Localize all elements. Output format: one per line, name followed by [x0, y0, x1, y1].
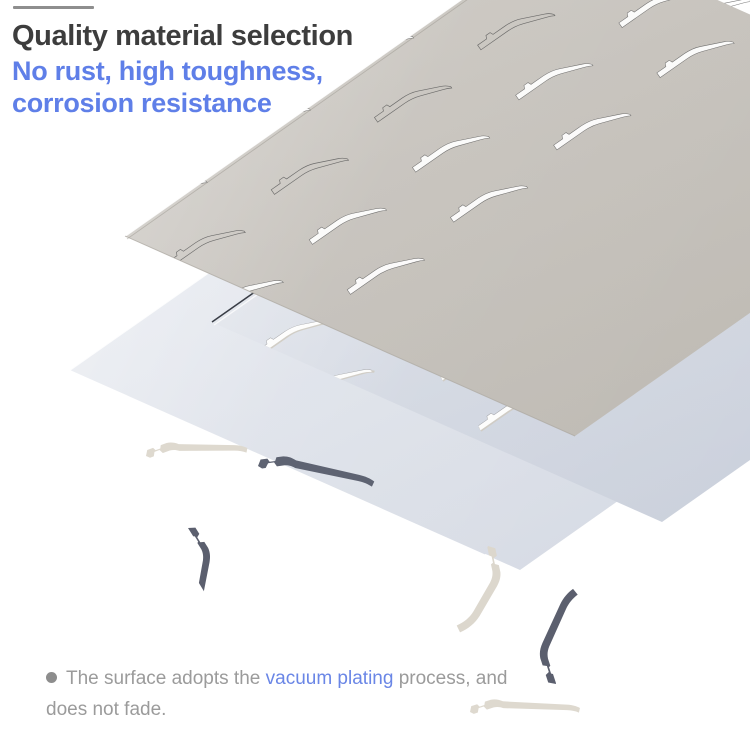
caption-text-before: The surface adopts the — [66, 668, 266, 689]
page-title: Quality material selection — [12, 21, 353, 52]
caption-highlight: vacuum plating — [266, 668, 394, 689]
feature-caption: The surface adopts the vacuum plating pr… — [46, 664, 516, 726]
bullet-icon — [46, 672, 57, 683]
blade-part-dark-lower-right — [523, 588, 602, 686]
subtitle-line-2: corrosion resistance — [12, 88, 353, 120]
divider-rule — [13, 6, 94, 9]
page-subtitle: No rust, high toughness, corrosion resis… — [12, 56, 353, 120]
header-block: Quality material selection No rust, high… — [12, 6, 353, 119]
subtitle-line-1: No rust, high toughness, — [12, 56, 353, 88]
product-feature-banner: Quality material selection No rust, high… — [0, 0, 750, 750]
